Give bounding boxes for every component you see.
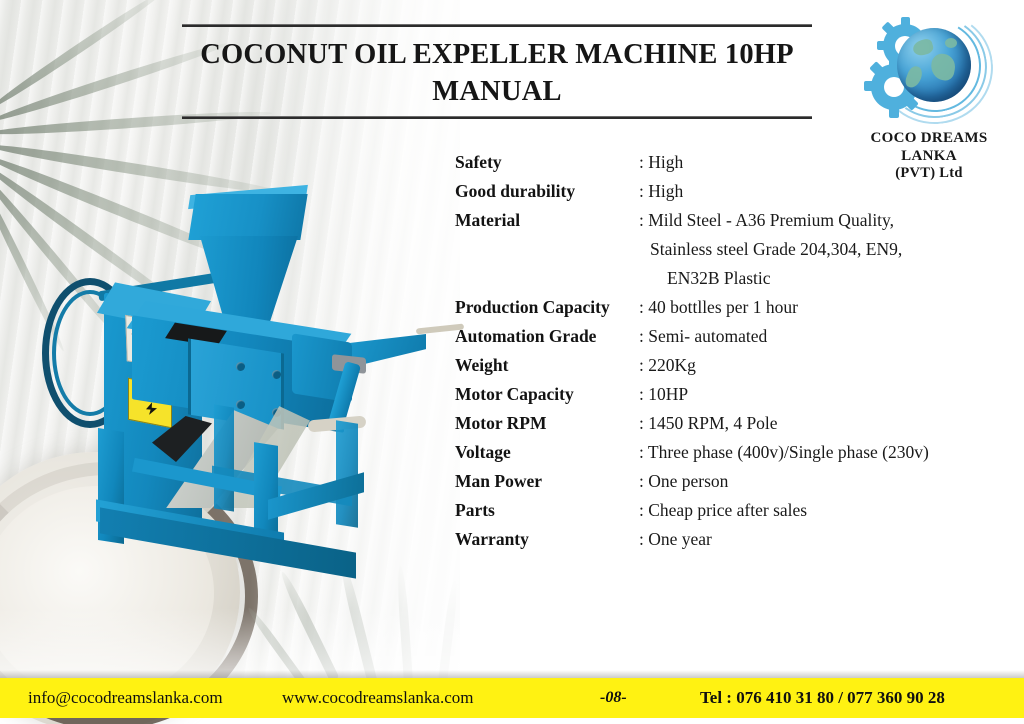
spec-label: Safety <box>455 152 639 173</box>
spec-value: : Semi- automated <box>639 326 767 347</box>
page-title: COCONUT OIL EXPELLER MACHINE 10HP MANUAL <box>182 36 812 110</box>
title-rule-bottom <box>182 116 812 119</box>
bolt <box>272 370 281 379</box>
gear-tooth <box>877 41 889 50</box>
spec-row: Safety : High <box>455 152 1015 181</box>
spec-row: Man Power : One person <box>455 471 1015 500</box>
spec-value: : High <box>639 152 683 173</box>
spec-row-continuation: EN32B Plastic <box>455 268 1015 297</box>
spec-label: Production Capacity <box>455 297 639 318</box>
spec-row: Weight : 220Kg <box>455 355 1015 384</box>
spec-value: : Three phase (400v)/Single phase (230v) <box>639 442 929 463</box>
page-title-line-2: MANUAL <box>182 73 812 110</box>
page-title-line-1: COCONUT OIL EXPELLER MACHINE 10HP <box>182 36 812 73</box>
spec-row: Production Capacity : 40 bottlles per 1 … <box>455 297 1015 326</box>
spec-label: Motor RPM <box>455 413 639 434</box>
spec-label: Automation Grade <box>455 326 639 347</box>
spec-label: Warranty <box>455 529 639 550</box>
spec-value: : Cheap price after sales <box>639 500 807 521</box>
spec-label: Voltage <box>455 442 639 463</box>
gear-tooth <box>901 17 910 29</box>
spec-row: Good durability : High <box>455 181 1015 210</box>
spec-row: Motor Capacity : 10HP <box>455 384 1015 413</box>
footer-telephone: Tel : 076 410 31 80 / 077 360 90 28 <box>700 688 945 708</box>
spec-value: EN32B Plastic <box>639 268 771 289</box>
spec-row-continuation: Stainless steel Grade 204,304, EN9, <box>455 239 1015 268</box>
title-rule-top <box>182 24 812 27</box>
logo-mark <box>859 18 999 126</box>
page-title-block: COCONUT OIL EXPELLER MACHINE 10HP MANUAL <box>182 24 812 119</box>
spec-label: Man Power <box>455 471 639 492</box>
spec-label: Good durability <box>455 181 639 202</box>
bolt <box>236 400 245 409</box>
footer-page-number: -08- <box>600 689 627 707</box>
product-spec-page: COCONUT OIL EXPELLER MACHINE 10HP MANUAL <box>0 0 1024 724</box>
bolt <box>236 362 245 371</box>
gear-tooth <box>889 105 899 118</box>
spec-value: : 220Kg <box>639 355 696 376</box>
spec-row: Voltage : Three phase (400v)/Single phas… <box>455 442 1015 471</box>
base-plate <box>100 507 356 578</box>
spec-value: : Mild Steel - A36 Premium Quality, <box>639 210 894 231</box>
spec-row: Warranty : One year <box>455 529 1015 558</box>
frame-leg <box>214 404 234 511</box>
hopper-mouth <box>188 194 307 240</box>
spec-value: : 1450 RPM, 4 Pole <box>639 413 778 434</box>
spec-value: : High <box>639 181 683 202</box>
spec-label: Motor Capacity <box>455 384 639 405</box>
gear-tooth <box>864 81 877 91</box>
spec-value: : One year <box>639 529 712 550</box>
spec-row: Material : Mild Steel - A36 Premium Qual… <box>455 210 1015 239</box>
spec-value: : One person <box>639 471 728 492</box>
page-footer: info@cocodreamslanka.com www.cocodreamsl… <box>0 678 1024 718</box>
spec-row: Parts : Cheap price after sales <box>455 500 1015 529</box>
footer-email[interactable]: info@cocodreamslanka.com <box>28 688 223 708</box>
spec-label: Weight <box>455 355 639 376</box>
spec-row: Automation Grade : Semi- automated <box>455 326 1015 355</box>
footer-website[interactable]: www.cocodreamslanka.com <box>282 688 474 708</box>
globe-continent <box>945 38 957 48</box>
spec-label: Parts <box>455 500 639 521</box>
spec-label: Material <box>455 210 639 231</box>
spec-value: : 40 bottlles per 1 hour <box>639 297 798 318</box>
spec-value: : 10HP <box>639 384 688 405</box>
spec-value: Stainless steel Grade 204,304, EN9, <box>639 239 902 260</box>
spec-row: Motor RPM : 1450 RPM, 4 Pole <box>455 413 1015 442</box>
specification-list: Safety : High Good durability : High Mat… <box>455 152 1015 558</box>
machine-illustration <box>40 186 460 581</box>
